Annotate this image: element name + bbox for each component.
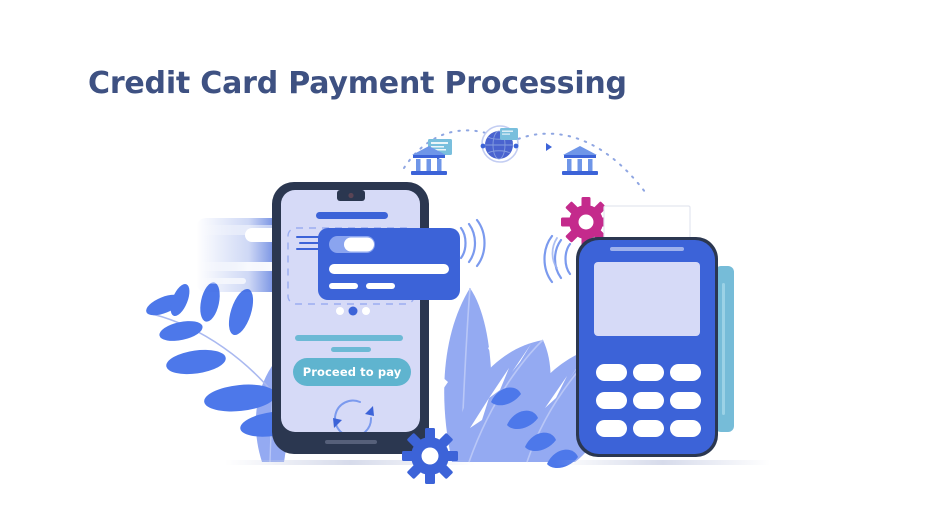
bank-icon-right — [562, 146, 598, 175]
proceed-to-pay-button[interactable] — [293, 358, 411, 386]
ground-shadow-right — [555, 460, 770, 465]
phone-header-bar — [316, 212, 388, 219]
keypad-key — [596, 420, 627, 437]
receipt-slot — [610, 247, 684, 251]
keypad-key — [670, 364, 701, 381]
card-detail-1 — [329, 283, 358, 289]
keypad-key — [633, 392, 664, 409]
keypad-key — [596, 392, 627, 409]
illustration-page: Credit Card Payment Processing — [0, 0, 945, 510]
home-indicator — [325, 440, 377, 444]
keypad-key — [633, 364, 664, 381]
keypad-key — [596, 364, 627, 381]
card-detail-2 — [366, 283, 395, 289]
payment-illustration — [0, 0, 945, 510]
keypad-key — [670, 420, 701, 437]
smartphone[interactable] — [272, 182, 429, 454]
terminal-keypad[interactable] — [596, 364, 701, 437]
nfc-waves-right — [461, 220, 485, 266]
camera-icon — [337, 190, 365, 201]
credit-card[interactable] — [318, 228, 460, 300]
card-number-stripe — [329, 264, 449, 274]
bank-icon-left — [411, 139, 452, 175]
carousel-dots[interactable] — [336, 307, 370, 316]
terminal-screen — [594, 262, 700, 336]
globe-icon — [481, 126, 519, 162]
keypad-key — [670, 392, 701, 409]
pos-terminal[interactable] — [576, 237, 734, 457]
gear-blue-icon — [402, 428, 458, 484]
nfc-waves-left — [545, 236, 571, 282]
keypad-key — [633, 420, 664, 437]
